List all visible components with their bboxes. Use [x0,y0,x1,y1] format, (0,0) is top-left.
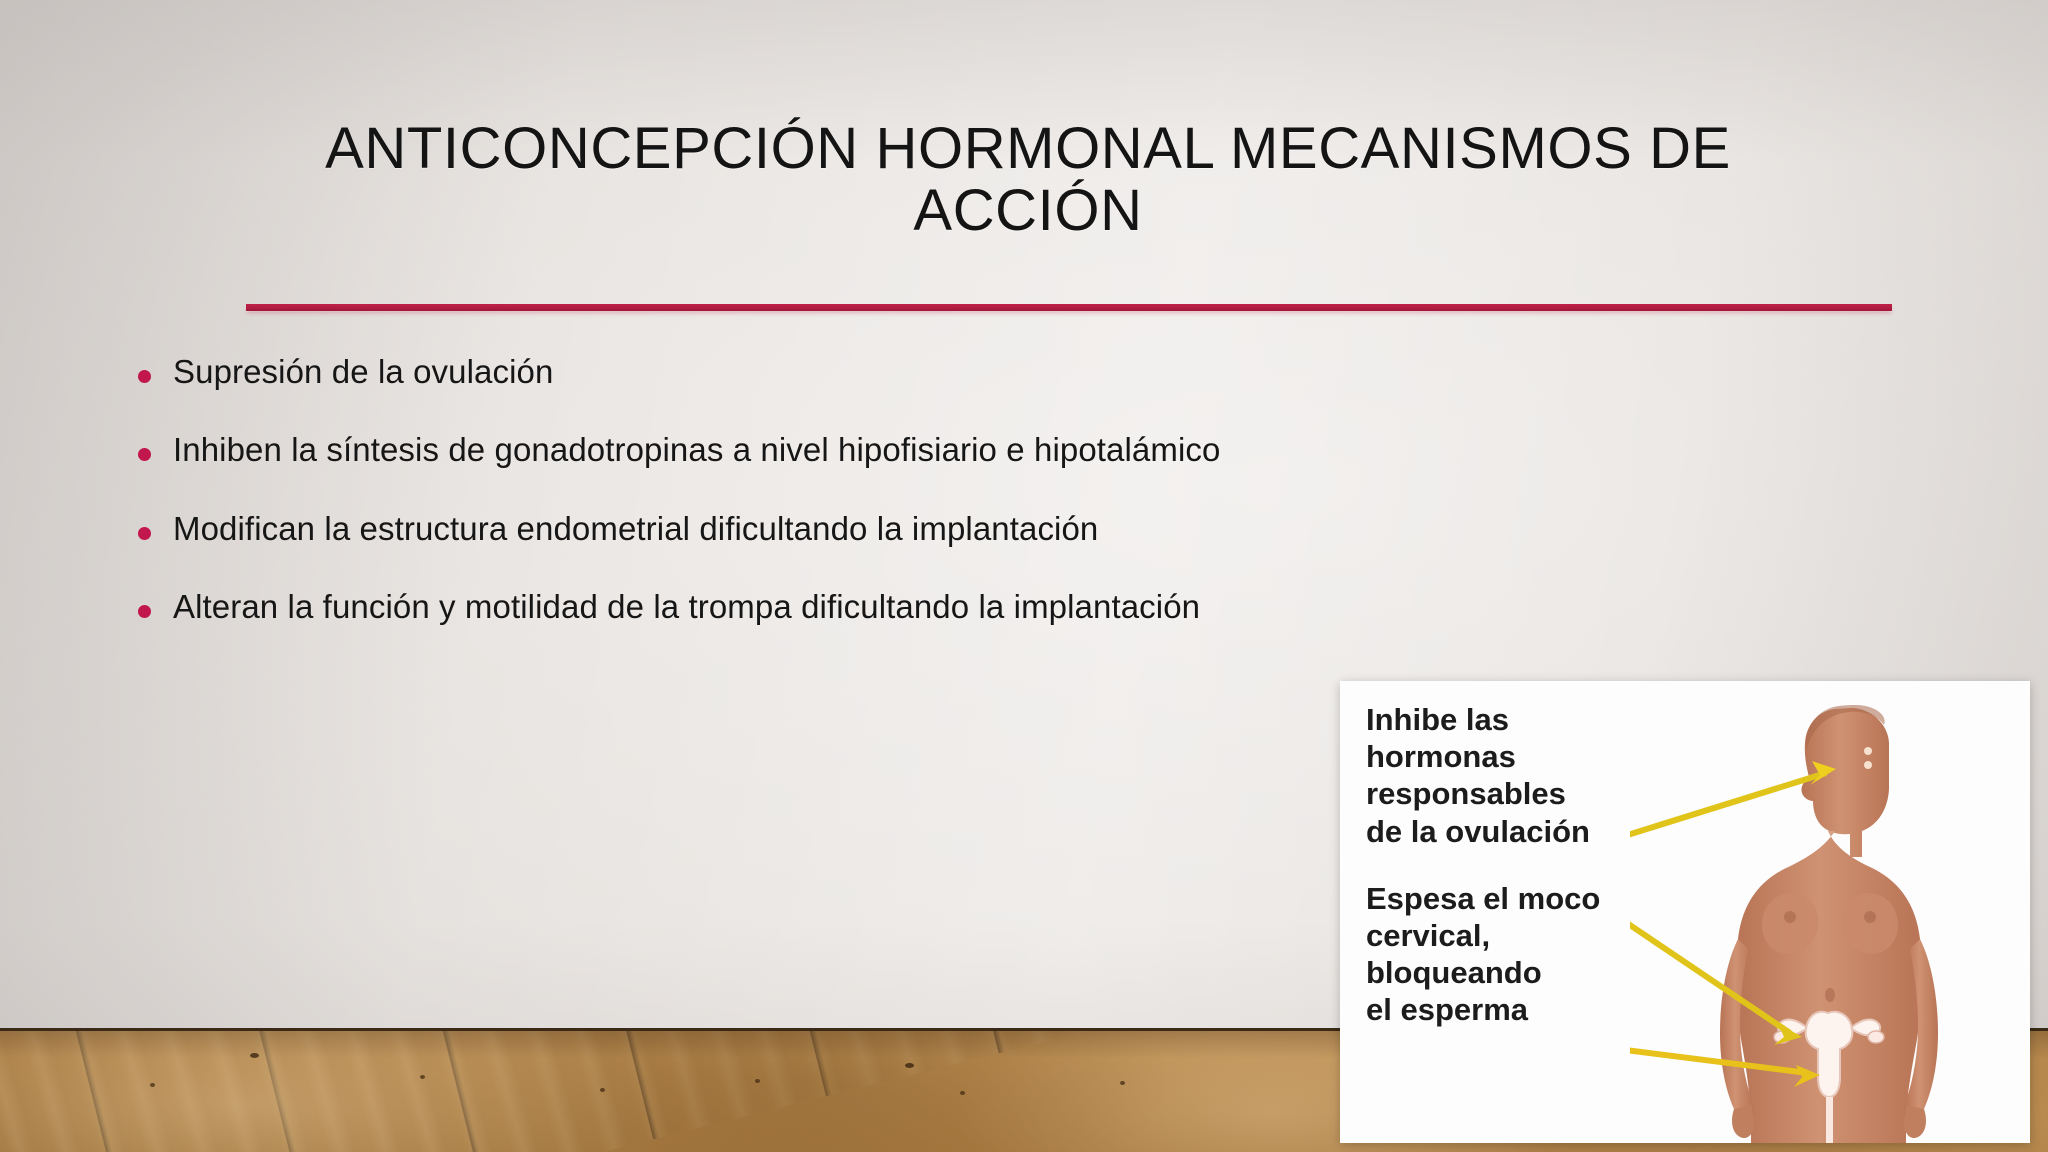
list-item: Alteran la función y motilidad de la tro… [138,587,1778,627]
floor-nail [755,1079,760,1083]
bullet-dot-icon [138,527,151,540]
slide-title: ANTICONCEPCIÓN HORMONAL MECANISMOS DE AC… [248,118,1808,242]
list-item: Inhiben la síntesis de gonadotropinas a … [138,430,1778,470]
bullet-text: Inhiben la síntesis de gonadotropinas a … [173,430,1220,470]
bullet-text: Supresión de la ovulación [173,352,553,392]
list-item: Modifican la estructura endometrial difi… [138,509,1778,549]
floor-nail [150,1083,155,1087]
list-item: Supresión de la ovulación [138,352,1778,392]
presentation-slide: ANTICONCEPCIÓN HORMONAL MECANISMOS DE AC… [0,0,2048,1152]
bullet-text: Alteran la función y motilidad de la tro… [173,587,1200,627]
floor-nail [1120,1081,1125,1085]
floor-knot [905,1063,914,1068]
floor-nail [600,1088,605,1092]
bullet-dot-icon [138,448,151,461]
inset-image-panel: Inhibe las hormonas responsables de la o… [1340,681,2030,1143]
floor-knot [250,1053,259,1058]
bullet-dot-icon [138,370,151,383]
title-underline-rule [246,304,1892,311]
female-body-illustration [1630,681,2030,1143]
bullet-text: Modifican la estructura endometrial difi… [173,509,1098,549]
bullet-list: Supresión de la ovulación Inhiben la sín… [138,352,1778,665]
bullet-dot-icon [138,605,151,618]
floor-nail [960,1091,965,1095]
floor-nail [420,1075,425,1079]
